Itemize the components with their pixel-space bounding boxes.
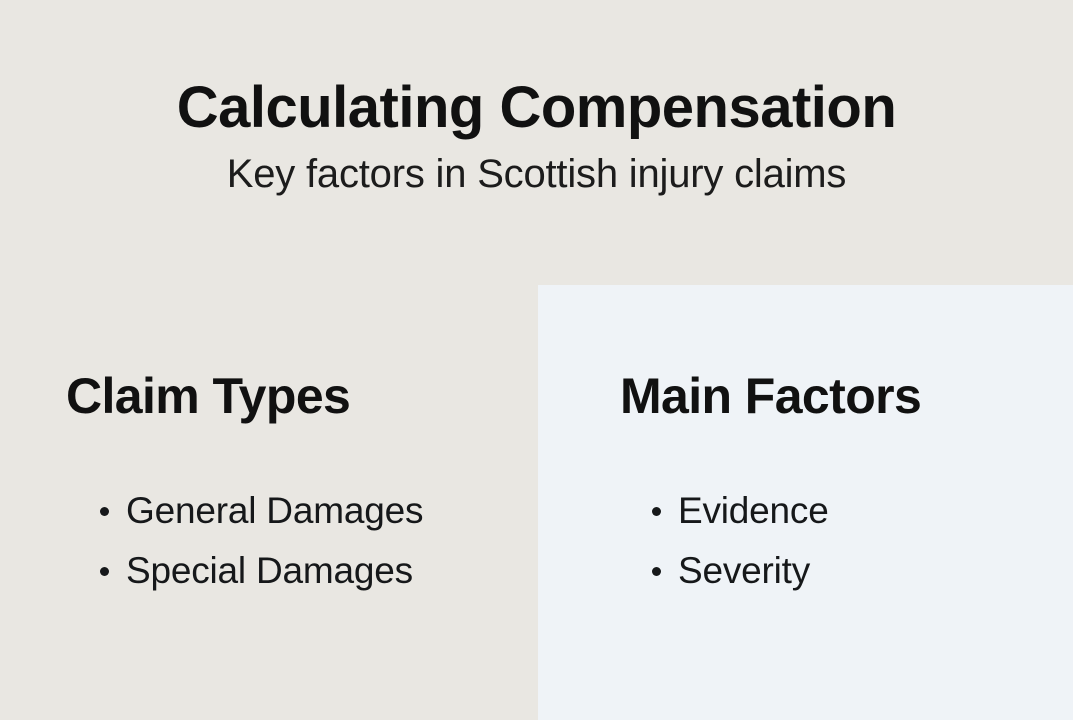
right-column-heading: Main Factors [620, 371, 921, 421]
list-item: Special Damages [100, 541, 423, 601]
page-subtitle: Key factors in Scottish injury claims [0, 137, 1073, 195]
slide-canvas: Calculating Compensation Key factors in … [0, 0, 1073, 720]
list-item: Evidence [652, 481, 829, 541]
left-column-bullet-list: General Damages Special Damages [100, 481, 423, 601]
right-column-bullet-list: Evidence Severity [652, 481, 829, 601]
list-item: Severity [652, 541, 829, 601]
list-item-label: Evidence [678, 490, 829, 531]
bullet-dot-icon [100, 567, 109, 576]
list-item-label: General Damages [126, 490, 423, 531]
list-item-label: Severity [678, 550, 810, 591]
bullet-dot-icon [652, 567, 661, 576]
bullet-dot-icon [652, 507, 661, 516]
bullet-dot-icon [100, 507, 109, 516]
page-title: Calculating Compensation [0, 78, 1073, 137]
left-column: Claim Types General Damages Special Dama… [0, 285, 538, 720]
right-column: Main Factors Evidence Severity [538, 285, 1073, 720]
slide-header: Calculating Compensation Key factors in … [0, 0, 1073, 285]
right-column-content: Main Factors Evidence Severity [538, 285, 1073, 720]
left-column-content: Claim Types General Damages Special Dama… [0, 285, 538, 720]
left-column-heading: Claim Types [66, 371, 350, 421]
list-item: General Damages [100, 481, 423, 541]
list-item-label: Special Damages [126, 550, 413, 591]
